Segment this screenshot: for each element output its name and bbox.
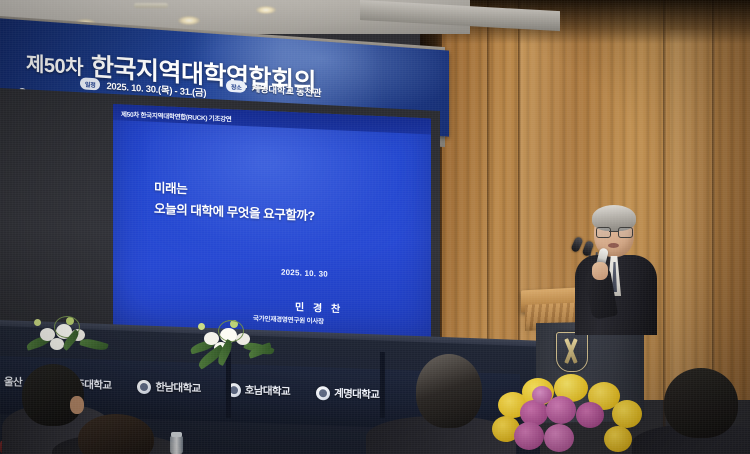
stage-logo-label: 한남대학교 <box>155 379 200 396</box>
university-emblem-icon <box>316 386 330 400</box>
stage-logo: 계명대학교 <box>316 385 379 402</box>
stem-arc <box>218 320 244 342</box>
projection-screen: 제50차 한국지역대학연합(RUCK) 기조강연 미래는 오늘의 대학에 무엇을… <box>113 104 431 340</box>
stage-logo-label: 계명대학교 <box>334 386 379 403</box>
banner-panel-gap <box>380 352 385 418</box>
audience-head <box>22 364 84 426</box>
purple-chrysanthemum-icon <box>544 424 574 452</box>
glasses-lens-right <box>618 227 633 238</box>
banner-ordinal: 제50차 <box>26 47 83 80</box>
glasses-lens-left <box>596 227 611 238</box>
audience-head <box>416 354 482 428</box>
venue-chip-label: 장소 <box>226 80 246 93</box>
yellow-chrysanthemum-icon <box>612 400 642 428</box>
chrysanthemum-bouquet <box>492 372 668 454</box>
purple-chrysanthemum-icon <box>514 422 544 450</box>
speaker-hand <box>592 262 608 280</box>
stage-logo: 울산 <box>4 374 22 390</box>
slot-light-icon <box>134 3 168 8</box>
glasses-bridge <box>609 231 618 232</box>
university-crest-icon <box>556 332 588 372</box>
slide-title: 미래는 오늘의 대학에 무엇을 요구할까? <box>154 178 315 227</box>
slide-kicker-text: 제50차 한국지역대학연합(RUCK) 기조강연 <box>121 108 231 123</box>
white-flower-icon <box>50 338 64 350</box>
stage-logo-label: 울산 <box>4 374 22 390</box>
stage-logo: 한남대학교 <box>137 379 200 396</box>
slide-date: 2025. 10. 30 <box>281 268 328 279</box>
stage-logo-label: 호남대학교 <box>245 383 290 400</box>
bottle-cap <box>171 432 182 437</box>
conference-keynote-photo: 제50차 한국지역대학연합회의 일정 2025. 10. 30.(목) - 31… <box>0 0 750 454</box>
purple-chrysanthemum-icon <box>574 426 602 452</box>
audience-head <box>664 368 738 438</box>
university-emblem-icon <box>137 379 151 393</box>
leaf-icon <box>79 336 108 352</box>
purple-chrysanthemum-icon <box>576 402 604 428</box>
green-bud-icon <box>198 323 205 330</box>
purple-chrysanthemum-icon <box>532 386 552 404</box>
downlight-icon <box>178 16 200 25</box>
audience-ear <box>70 396 84 414</box>
yellow-chrysanthemum-icon <box>604 426 632 452</box>
purple-chrysanthemum-icon <box>546 396 576 424</box>
glasses-icon <box>596 227 632 236</box>
speaker-mouth <box>608 243 619 248</box>
green-bud-icon <box>34 319 41 326</box>
water-bottle <box>170 436 183 454</box>
stage-logo: 호남대학교 <box>227 382 290 399</box>
date-chip-label: 일정 <box>80 77 100 90</box>
stage-flower-arrangement-right <box>190 318 276 362</box>
slide-speaker-name: 민 경 찬 <box>295 298 343 315</box>
downlight-icon <box>256 6 276 14</box>
